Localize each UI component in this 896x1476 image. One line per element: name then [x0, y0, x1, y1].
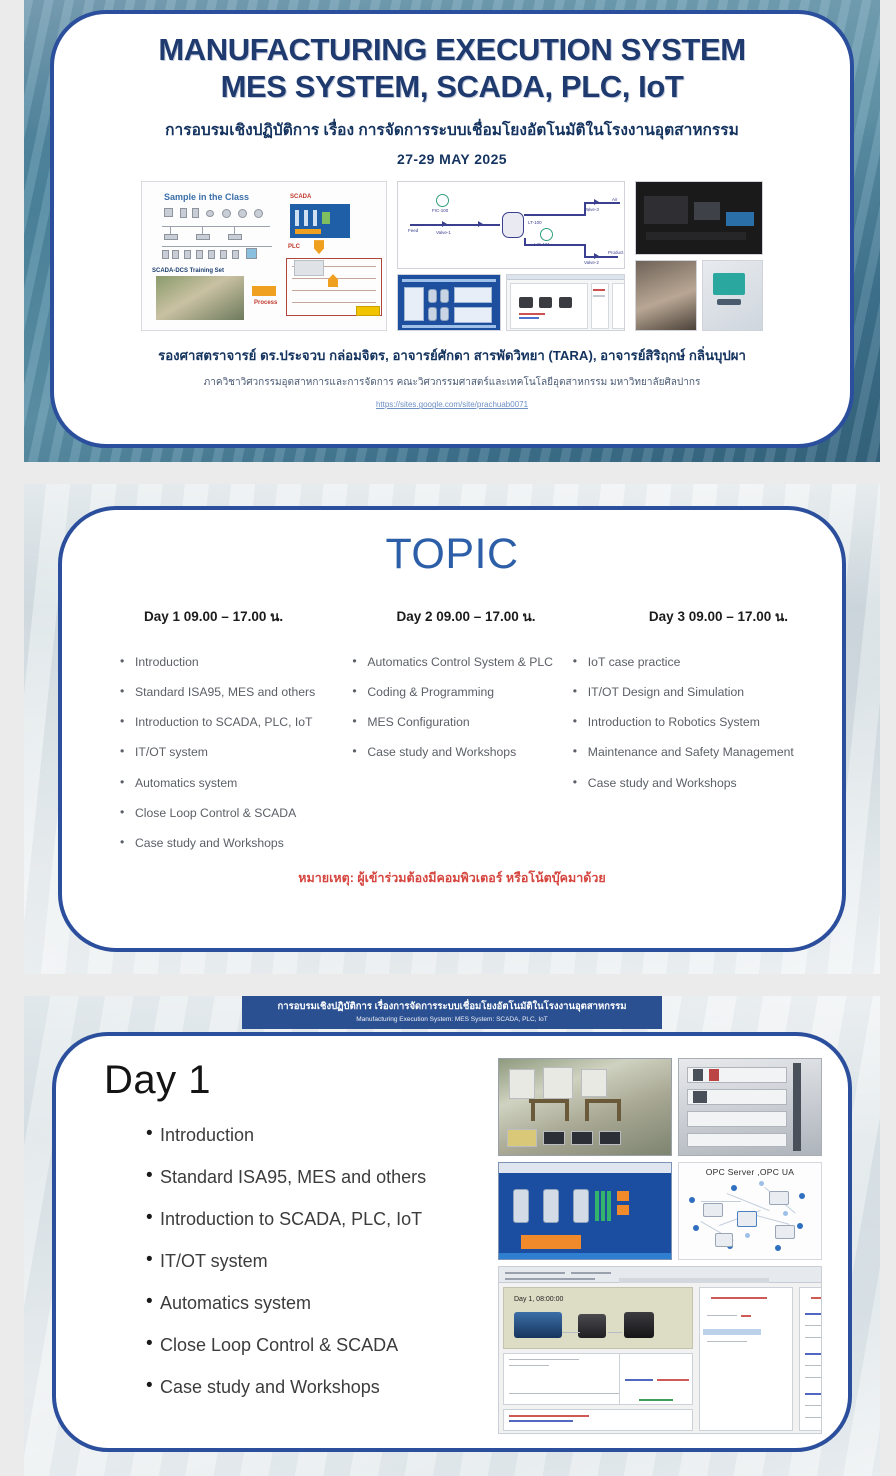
photo-training-bench: [498, 1058, 672, 1156]
subtitle-thai: การอบรมเชิงปฏิบัติการ เรื่อง การจัดการระ…: [80, 117, 824, 142]
photo-strip: Sample in the Class SCADA PLC Process SC…: [80, 181, 824, 331]
department-affiliation: ภาควิชาวิศวกรรมอุตสาหการและการจัดการ คณะ…: [80, 375, 824, 390]
photo-pid-diagram: FIC-100 Feed Valve-1 LT-100 Valve-3 Air …: [397, 181, 625, 269]
list-item: Standard ISA95, MES and others: [120, 685, 352, 700]
slide-card: TOPIC Day 1 09.00 – 17.00 น. Day 2 09.00…: [58, 506, 846, 952]
list-item: Introduction to SCADA, PLC, IoT: [146, 1209, 492, 1230]
list-item: Introduction: [146, 1125, 492, 1146]
list-item: Case study and Workshops: [573, 776, 812, 791]
list-item: Introduction to Robotics System: [573, 715, 812, 730]
photo-pid-and-hmi: FIC-100 Feed Valve-1 LT-100 Valve-3 Air …: [397, 181, 625, 331]
slide-title: MANUFACTURING EXECUTION SYSTEM MES SYSTE…: [24, 0, 880, 462]
day1-image-gallery: OPC Server ,OPC UA: [492, 1058, 822, 1426]
day1-header: Day 1 09.00 – 17.00 น.: [92, 605, 359, 627]
title-line-2: MES SYSTEM, SCADA, PLC, IoT: [80, 69, 824, 106]
requirement-note: หมายเหตุ: ผู้เข้าร่วมต้องมีคอมพิวเตอร์ ห…: [92, 868, 812, 888]
slide-day1: การอบรมเชิงปฏิบัติการ เรื่องการจัดการระบ…: [24, 996, 880, 1476]
slide-topic: TOPIC Day 1 09.00 – 17.00 น. Day 2 09.00…: [24, 484, 880, 974]
day-headers-row: Day 1 09.00 – 17.00 น. Day 2 09.00 – 17.…: [92, 605, 812, 627]
list-item: Case study and Workshops: [146, 1377, 492, 1398]
list-item: Case study and Workshops: [352, 745, 572, 760]
title-line-1: MANUFACTURING EXECUTION SYSTEM: [80, 32, 824, 69]
photo-lab-and-arduino: [635, 181, 763, 331]
event-date: 27-29 MAY 2025: [80, 151, 824, 167]
day2-header: Day 2 09.00 – 17.00 น.: [359, 605, 574, 627]
list-item: Coding & Programming: [352, 685, 572, 700]
day3-header: Day 3 09.00 – 17.00 น.: [573, 605, 812, 627]
slide-card: MANUFACTURING EXECUTION SYSTEM MES SYSTE…: [50, 10, 854, 448]
simulation-time-label: Day 1, 08:00:00: [514, 1296, 563, 1303]
site-url-link[interactable]: https://sites.google.com/site/prachuab00…: [376, 400, 528, 409]
list-item: Automatics system: [120, 776, 352, 791]
list-item: Automatics system: [146, 1293, 492, 1314]
list-item: IT/OT system: [120, 745, 352, 760]
day1-column: Introduction Standard ISA95, MES and oth…: [92, 655, 352, 866]
list-item: Introduction: [120, 655, 352, 670]
list-item: Standard ISA95, MES and others: [146, 1167, 492, 1188]
banner-thai-title: การอบรมเชิงปฏิบัติการ เรื่องการจัดการระบ…: [248, 1001, 656, 1013]
topic-columns: Introduction Standard ISA95, MES and oth…: [92, 655, 812, 866]
photo-engineering-window: [506, 274, 625, 331]
photo-hmi-screen: [397, 274, 501, 331]
list-item: Maintenance and Safety Management: [573, 745, 812, 760]
day3-column: IoT case practice IT/OT Design and Simul…: [573, 655, 812, 866]
day1-content: Day 1 Introduction Standard ISA95, MES a…: [82, 1058, 492, 1426]
list-item: Introduction to SCADA, PLC, IoT: [120, 715, 352, 730]
page-title: MANUFACTURING EXECUTION SYSTEM MES SYSTE…: [80, 32, 824, 105]
list-item: Automatics Control System & PLC: [352, 655, 572, 670]
day1-topic-list: Introduction Standard ISA95, MES and oth…: [104, 1125, 492, 1398]
list-item: Case study and Workshops: [120, 836, 352, 851]
list-item: IoT case practice: [573, 655, 812, 670]
diagram-opc-network: OPC Server ,OPC UA: [678, 1162, 822, 1260]
presenter-names: รองศาสตราจารย์ ดร.ประจวบ กล่อมจิตร, อาจา…: [80, 345, 824, 366]
banner-english-title: Manufacturing Execution System: MES Syst…: [248, 1016, 656, 1023]
list-item: Close Loop Control & SCADA: [146, 1335, 492, 1356]
day1-title: Day 1: [104, 1058, 492, 1103]
slide-banner: การอบรมเชิงปฏิบัติการ เรื่องการจัดการระบ…: [242, 996, 662, 1029]
photo-sample-in-class: Sample in the Class SCADA PLC Process SC…: [141, 181, 387, 331]
list-item: IT/OT system: [146, 1251, 492, 1272]
day2-column: Automatics Control System & PLC Coding &…: [352, 655, 572, 866]
photo-simulation-window: Day 1, 08:00:00: [498, 1266, 822, 1434]
topic-heading: TOPIC: [92, 530, 812, 579]
photo-control-cabinet: [678, 1058, 822, 1156]
photo-arduino-board: [702, 260, 763, 332]
photo-dark-lab: [635, 181, 763, 255]
list-item: MES Configuration: [352, 715, 572, 730]
photo-scada-mimic: [498, 1162, 672, 1260]
photo-hand-wiring: [635, 260, 697, 332]
opc-label: OPC Server ,OPC UA: [679, 1167, 821, 1177]
list-item: IT/OT Design and Simulation: [573, 685, 812, 700]
slide-card: Day 1 Introduction Standard ISA95, MES a…: [52, 1032, 852, 1452]
list-item: Close Loop Control & SCADA: [120, 806, 352, 821]
